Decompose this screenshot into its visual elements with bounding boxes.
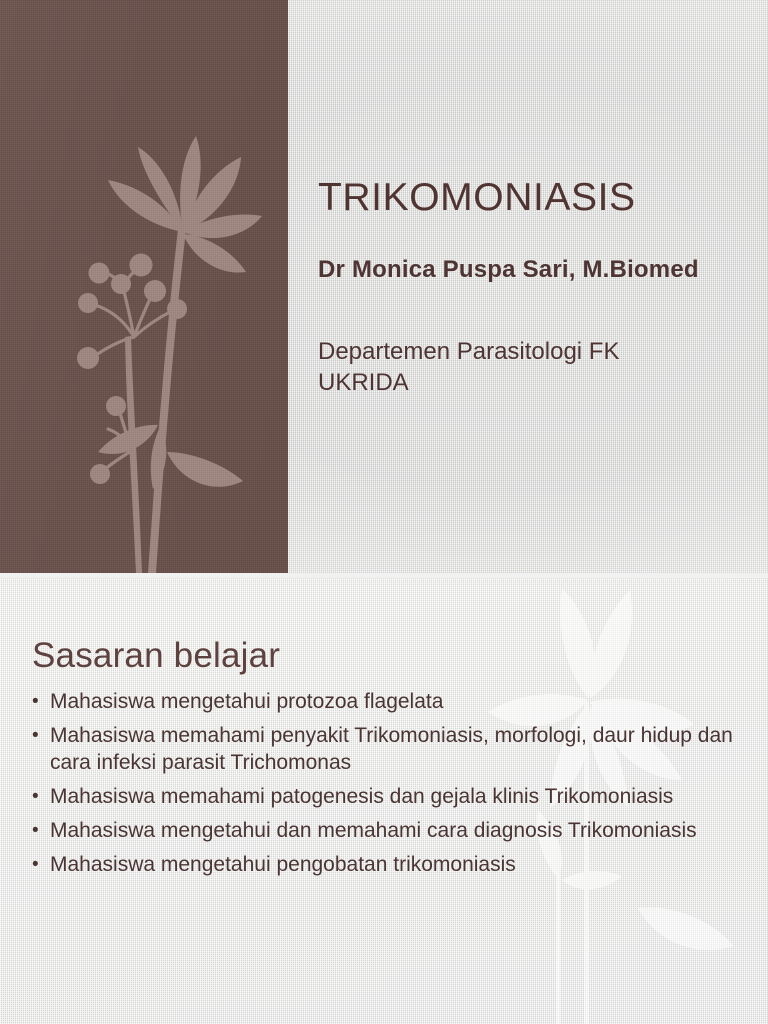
list-item: •Mahasiswa mengetahui protozoa flagelata xyxy=(30,688,736,715)
slide-2-bullet-list: •Mahasiswa mengetahui protozoa flagelata… xyxy=(30,688,736,885)
slide-2-heading: Sasaran belajar xyxy=(32,636,280,676)
list-item-text: Mahasiswa memahami penyakit Trikomoniasi… xyxy=(50,724,733,774)
presentation-page: TRIKOMONIASIS Dr Monica Puspa Sari, M.Bi… xyxy=(0,0,768,1024)
slide-1-subtitle: Dr Monica Puspa Sari, M.Biomed xyxy=(318,256,699,284)
slide-1[interactable]: TRIKOMONIASIS Dr Monica Puspa Sari, M.Bi… xyxy=(0,0,768,573)
bullet-icon: • xyxy=(32,851,39,878)
list-item-text: Mahasiswa mengetahui pengobatan trikomon… xyxy=(50,853,516,876)
list-item: •Mahasiswa memahami patogenesis dan geja… xyxy=(30,783,736,810)
slide-1-panel-texture xyxy=(0,0,288,573)
slide-1-accent-panel xyxy=(0,0,288,573)
slide-2[interactable]: Sasaran belajar •Mahasiswa mengetahui pr… xyxy=(0,578,768,1024)
bullet-icon: • xyxy=(32,722,39,749)
slide-1-organization: Departemen Parasitologi FK UKRIDA xyxy=(318,336,619,398)
bullet-icon: • xyxy=(32,783,39,810)
list-item-text: Mahasiswa mengetahui protozoa flagelata xyxy=(50,690,443,713)
list-item: •Mahasiswa mengetahui pengobatan trikomo… xyxy=(30,851,736,878)
bullet-icon: • xyxy=(32,817,39,844)
list-item: •Mahasiswa memahami penyakit Trikomonias… xyxy=(30,722,736,776)
slide-1-title: TRIKOMONIASIS xyxy=(318,176,636,220)
list-item-text: Mahasiswa memahami patogenesis dan gejal… xyxy=(50,785,673,808)
slide-1-organization-line-2: UKRIDA xyxy=(318,367,619,398)
bullet-icon: • xyxy=(32,688,39,715)
slide-1-organization-line-1: Departemen Parasitologi FK xyxy=(318,336,619,367)
list-item: •Mahasiswa mengetahui dan memahami cara … xyxy=(30,817,736,844)
list-item-text: Mahasiswa mengetahui dan memahami cara d… xyxy=(50,819,697,842)
